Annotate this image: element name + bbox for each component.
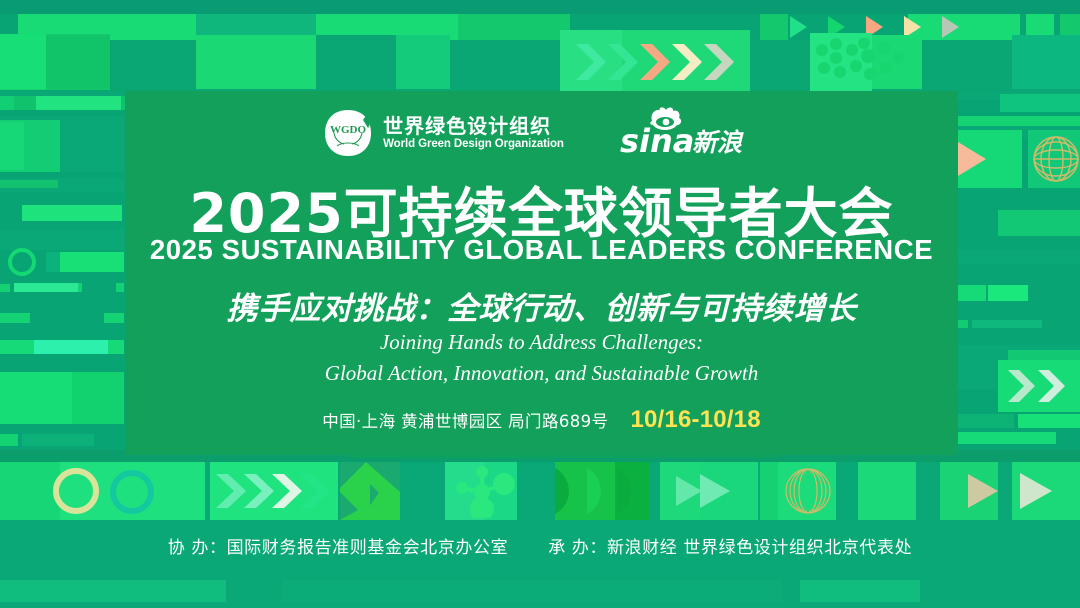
- subtitle-cn: 携手应对挑战：全球行动、创新与可持续增长: [125, 283, 958, 328]
- bg-block: [0, 580, 226, 602]
- bg-block: [998, 210, 1080, 236]
- triangle-arrow-icon: [958, 142, 986, 176]
- main-content-panel: WGDO 世界绿色设计组织 World Green Design Organiz…: [125, 91, 958, 455]
- host-text: 承 办：新浪财经 世界绿色设计组织北京代表处: [548, 533, 912, 558]
- bg-block: [34, 340, 108, 354]
- triangle-arrow-icon: [790, 16, 807, 38]
- bg-block: [958, 414, 1014, 428]
- bg-block: [78, 283, 82, 292]
- wgdo-text-block: 世界绿色设计组织 World Green Design Organization: [383, 116, 564, 151]
- bg-block: [958, 250, 1080, 264]
- bg-block: [0, 434, 18, 446]
- bg-block: [958, 116, 1080, 126]
- organizers-footer: 协 办：国际财务报告准则基金会北京办公室 承 办：新浪财经 世界绿色设计组织北京…: [0, 533, 1080, 558]
- bg-block: [0, 122, 24, 170]
- bg-block: [0, 230, 124, 250]
- bg-block: [0, 284, 10, 292]
- globe-wireframe-icon: [1030, 130, 1080, 188]
- bg-block: [800, 580, 920, 602]
- conference-poster: WGDO 世界绿色设计组织 World Green Design Organiz…: [0, 0, 1080, 608]
- sina-logo: sina 新浪: [620, 107, 760, 159]
- molecule-icon: [448, 464, 520, 518]
- circle-outline-icon: [8, 248, 36, 276]
- event-venue: 中国·上海 黄浦世博园区 局门路689号: [322, 408, 608, 432]
- logo-row: WGDO 世界绿色设计组织 World Green Design Organiz…: [125, 107, 958, 159]
- bg-block: [958, 432, 1056, 444]
- bg-block: [972, 320, 1042, 328]
- event-dates: 10/16-10/18: [630, 406, 760, 434]
- bg-block: [14, 283, 78, 292]
- bg-block: [316, 35, 396, 89]
- triangle-pattern-icon: [340, 462, 400, 520]
- co-organizer-text: 协 办：国际财务报告准则基金会北京办公室: [168, 533, 508, 558]
- chevron-arrows-icon: [1004, 364, 1080, 408]
- bg-block: [22, 205, 122, 221]
- sina-name-cn: 新浪: [692, 128, 744, 157]
- wgdo-name-en: World Green Design Organization: [383, 139, 564, 151]
- bg-block: [46, 35, 110, 89]
- half-circle-icon: [555, 462, 650, 520]
- bg-block: [988, 285, 1028, 301]
- bg-block: [0, 313, 30, 323]
- wgdo-name-cn: 世界绿色设计组织: [383, 116, 564, 136]
- wgdo-logo: WGDO 世界绿色设计组织 World Green Design Organiz…: [323, 108, 564, 158]
- globe-sphere-icon: [780, 464, 836, 518]
- leaf-logo-icon: WGDO: [323, 108, 373, 158]
- page-title-en: 2025 SUSTAINABILITY GLOBAL LEADERS CONFE…: [125, 234, 958, 266]
- bg-block: [396, 35, 450, 89]
- triangle-arrow-icon: [1020, 473, 1052, 509]
- bg-block: [104, 313, 124, 323]
- bg-block: [958, 285, 986, 301]
- chevron-arrows-icon: [572, 38, 748, 86]
- bg-block: [0, 462, 60, 520]
- event-details: 中国·上海 黄浦世博园区 局门路689号 10/16-10/18: [125, 406, 958, 434]
- bg-block: [116, 283, 124, 292]
- bg-block: [36, 96, 121, 110]
- bg-block: [0, 180, 58, 188]
- sina-wordmark: sina: [620, 122, 694, 159]
- bg-block: [72, 372, 124, 424]
- triangle-arrow-icon: [942, 16, 959, 38]
- subtitle-en-line2: Global Action, Innovation, and Sustainab…: [125, 361, 958, 386]
- bg-block: [458, 14, 570, 40]
- bg-block: [282, 580, 782, 602]
- circle-outline-icon: [53, 468, 99, 514]
- subtitle-en-line1: Joining Hands to Address Challenges:: [125, 330, 958, 355]
- bg-block: [858, 462, 916, 520]
- bg-block: [1000, 94, 1080, 112]
- bg-block: [1018, 414, 1080, 428]
- triangle-arrow-icon: [676, 476, 702, 506]
- bg-block: [60, 252, 124, 272]
- circle-outline-icon: [110, 470, 154, 514]
- bg-block: [760, 14, 788, 40]
- bg-block: [0, 0, 1080, 14]
- triangle-arrow-icon: [968, 474, 998, 508]
- bg-block: [196, 35, 316, 89]
- triangle-arrow-icon: [700, 474, 730, 508]
- bg-block: [908, 14, 1020, 40]
- bg-block: [0, 96, 14, 110]
- bg-block: [108, 340, 124, 354]
- bg-block: [0, 340, 36, 354]
- bg-block: [0, 35, 46, 89]
- chevron-arrows-icon: [212, 466, 342, 516]
- wgdo-mark-text: WGDO: [330, 124, 367, 136]
- bg-block: [22, 434, 94, 446]
- molecule-network-icon: [812, 38, 918, 86]
- bg-block: [1012, 35, 1080, 89]
- bg-block: [958, 320, 968, 328]
